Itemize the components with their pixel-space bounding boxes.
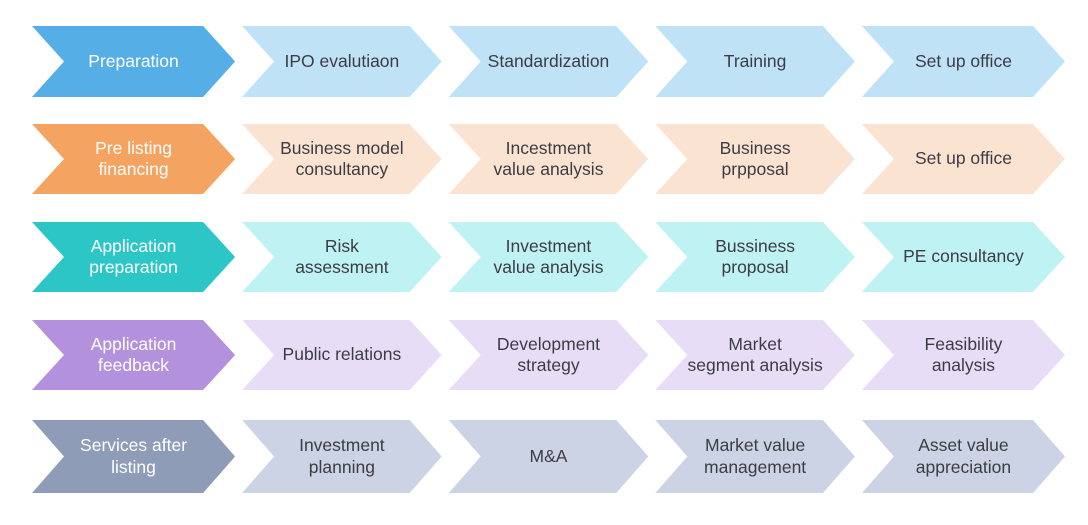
chevron-shape[interactable] (242, 26, 442, 97)
chevron-shape[interactable] (449, 420, 649, 493)
chevron-shape[interactable] (862, 222, 1065, 292)
chevron-shape[interactable] (242, 320, 442, 390)
chevron-row-application-feedback (0, 320, 1088, 390)
chevron-row-shapes (0, 26, 1088, 97)
chevron-shape[interactable] (242, 420, 442, 493)
chevron-shape[interactable] (32, 420, 235, 493)
chevron-shape[interactable] (655, 222, 855, 292)
chevron-shape[interactable] (655, 26, 855, 97)
chevron-shape[interactable] (655, 420, 855, 493)
chevron-shape[interactable] (449, 124, 649, 194)
chevron-shape[interactable] (862, 26, 1065, 97)
chevron-shape[interactable] (32, 124, 235, 194)
chevron-shape[interactable] (32, 222, 235, 292)
chevron-shape[interactable] (449, 222, 649, 292)
chevron-shape[interactable] (862, 420, 1065, 493)
chevron-shape[interactable] (449, 320, 649, 390)
chevron-shape[interactable] (862, 124, 1065, 194)
chevron-row-shapes (0, 222, 1088, 292)
chevron-row-pre-listing-financing (0, 124, 1088, 194)
chevron-shape[interactable] (862, 320, 1065, 390)
chevron-row-application-preparation (0, 222, 1088, 292)
chevron-shape[interactable] (242, 222, 442, 292)
chevron-process-diagram: PreparationIPO evalutiaonStandardization… (0, 0, 1088, 525)
chevron-shape[interactable] (242, 124, 442, 194)
chevron-shape[interactable] (449, 26, 649, 97)
chevron-row-shapes (0, 420, 1088, 493)
chevron-shape[interactable] (655, 320, 855, 390)
chevron-shape[interactable] (32, 26, 235, 97)
chevron-row-shapes (0, 320, 1088, 390)
chevron-row-preparation (0, 26, 1088, 97)
chevron-shape[interactable] (655, 124, 855, 194)
chevron-row-services-after-listing (0, 420, 1088, 493)
chevron-row-shapes (0, 124, 1088, 194)
chevron-shape[interactable] (32, 320, 235, 390)
